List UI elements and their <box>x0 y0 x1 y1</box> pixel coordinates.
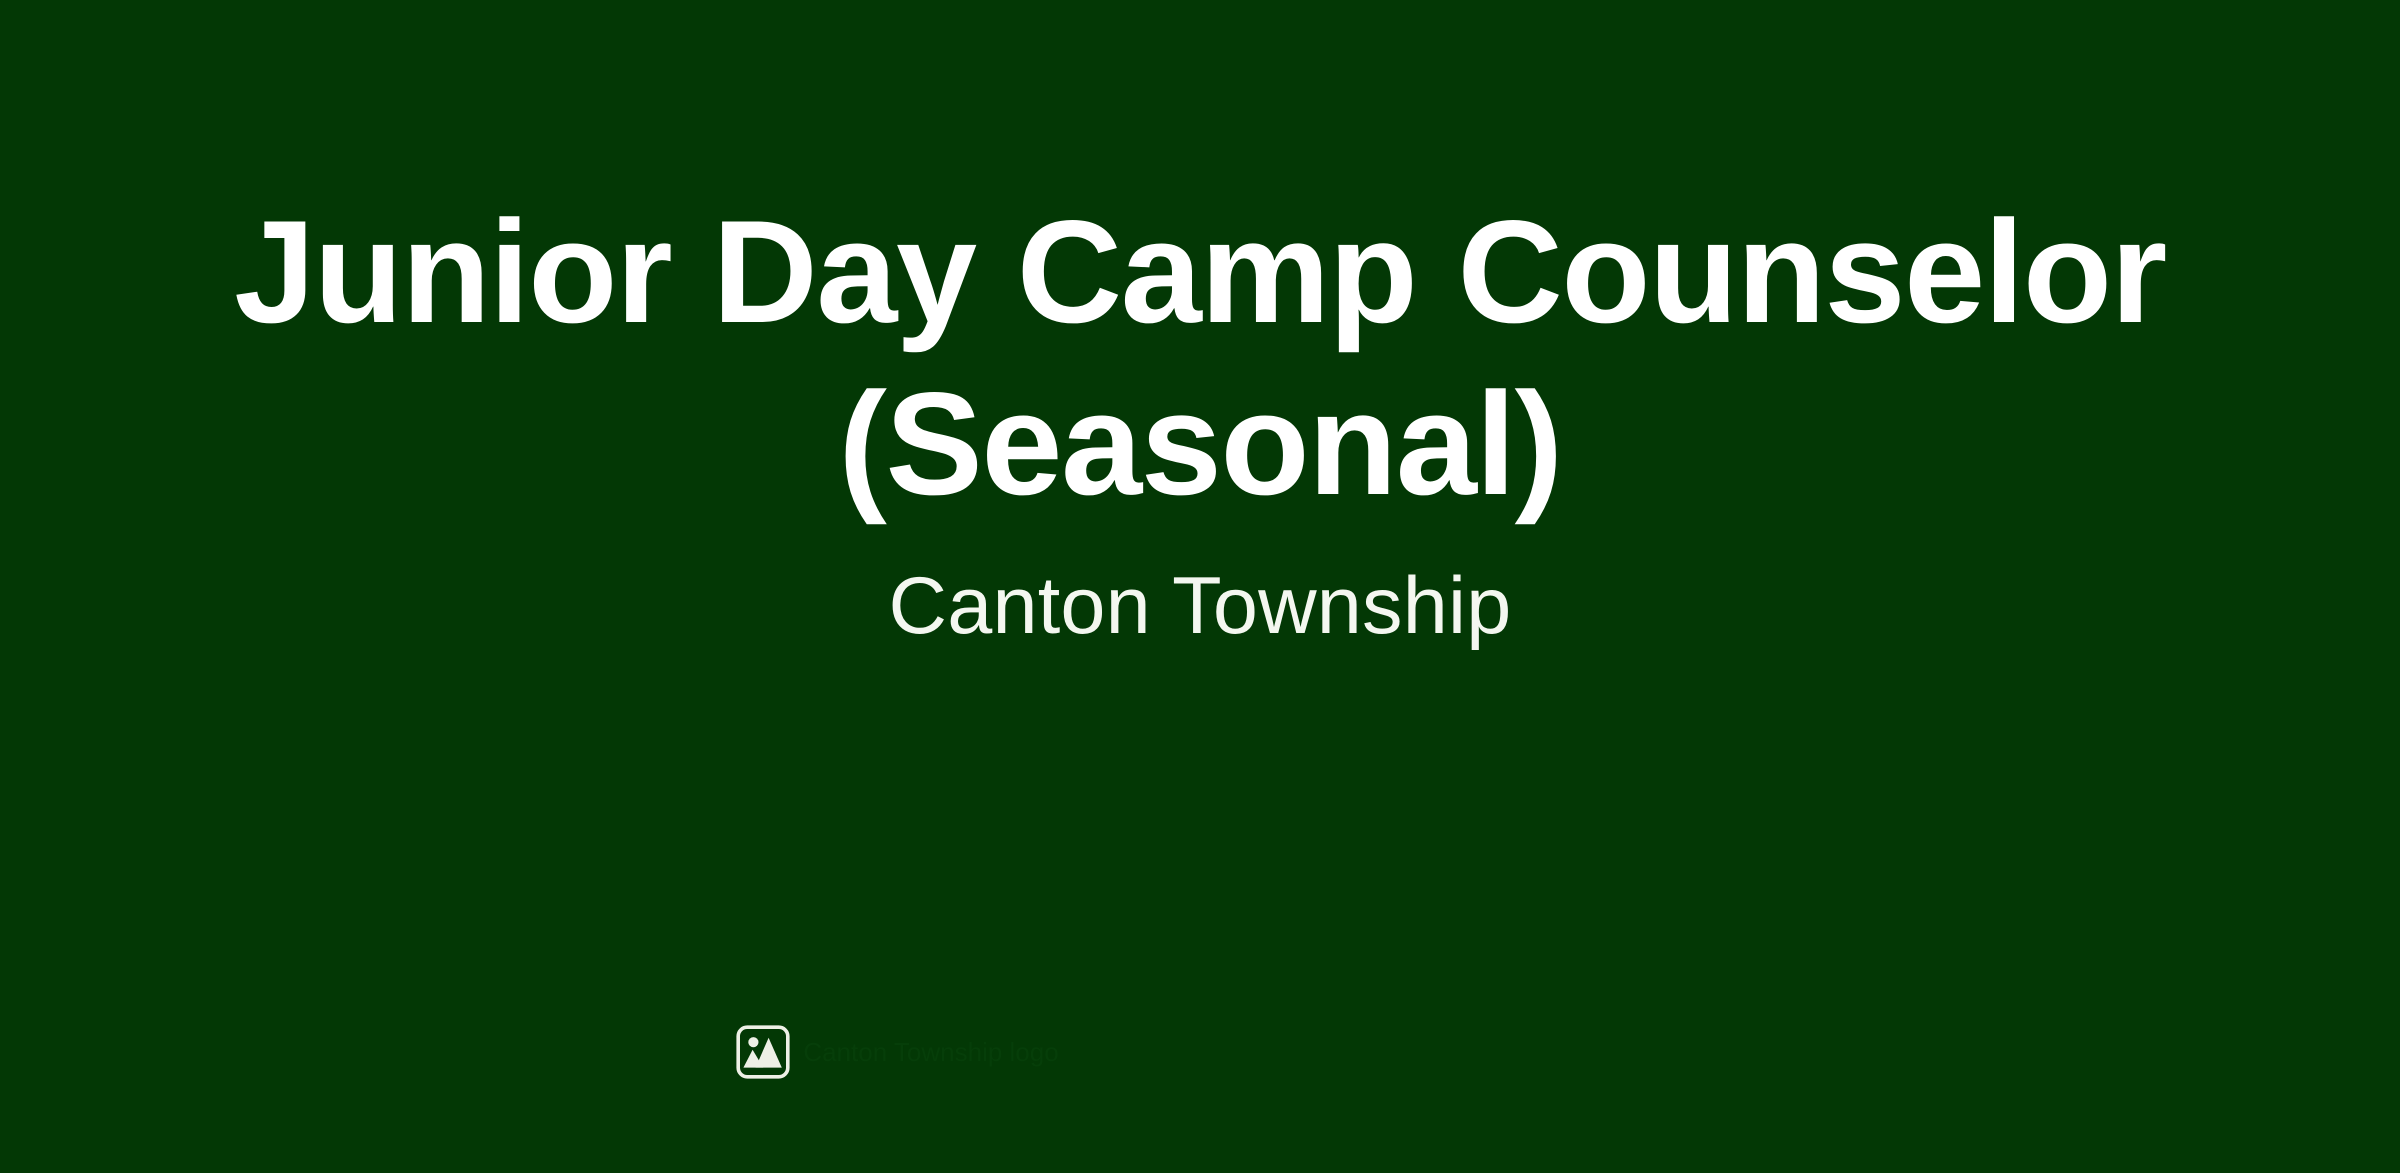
broken-image-placeholder-icon <box>735 1024 791 1080</box>
employer-logo: Canton Township logo <box>735 1024 1058 1080</box>
hero-text-block: Junior Day Camp Counselor (Seasonal) Can… <box>195 0 2205 654</box>
employer-logo-alt-text: Canton Township logo <box>803 1037 1058 1067</box>
page-title: Junior Day Camp Counselor (Seasonal) <box>195 186 2205 530</box>
employer-name: Canton Township <box>195 530 2205 654</box>
employer-logo-row: Canton Township logo <box>0 1024 2400 1080</box>
job-posting-hero-card: Junior Day Camp Counselor (Seasonal) Can… <box>0 0 2400 1173</box>
